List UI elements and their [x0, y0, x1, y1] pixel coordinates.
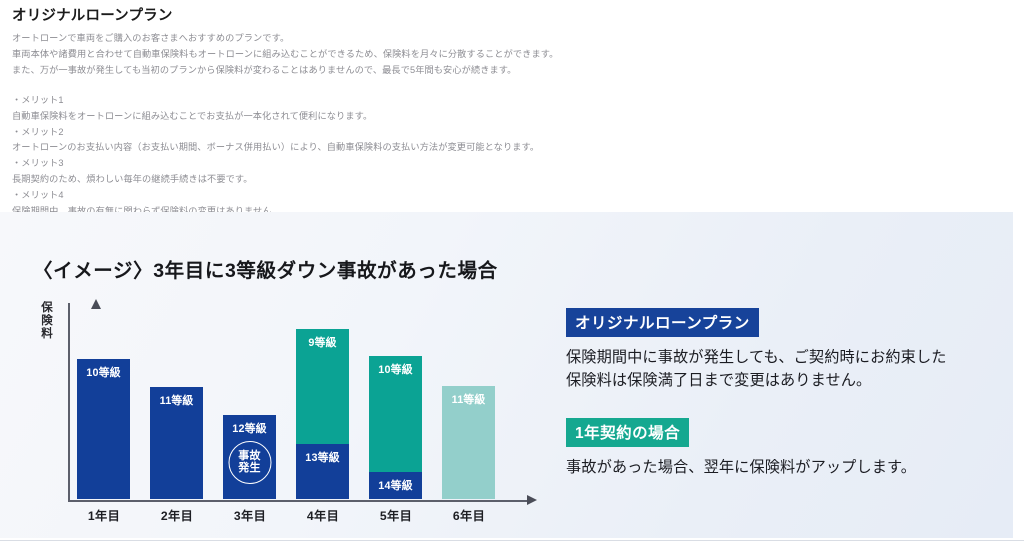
callouts-section: オリジナルローンプラン 保険期間中に事故が発生しても、ご契約時にお約束した 保険… [566, 308, 996, 505]
bar-label-year6-grade11: 11等級 [442, 391, 495, 407]
intro-paragraph-3: また、万が一事故が発生しても当初のプランから保険料が変わることはありませんので、… [12, 63, 1002, 79]
merit-4-label: ・メリット4 [12, 188, 1002, 204]
bar-label-year4-grade9: 9等級 [296, 334, 349, 350]
bar-segment-year4-grade13: 13等級 [296, 444, 349, 499]
merit-3-label: ・メリット3 [12, 156, 1002, 172]
page-root: オリジナルローンプラン オートローンで車両をご購入のお客さまへおすすめのプランで… [0, 0, 1024, 545]
chart-title: 〈イメージ〉3年目に3等級ダウン事故があった場合 [33, 254, 498, 283]
bar-label-year4-grade13: 13等級 [296, 449, 349, 465]
intro-section: オリジナルローンプラン オートローンで車両をご購入のお客さまへおすすめのプランで… [12, 8, 1002, 220]
bar-chart: 保険料 10等級 [40, 298, 540, 516]
callout-body-original-loan-plan: 保険期間中に事故が発生しても、ご契約時にお約束した 保険料は保険満了日まで変更は… [566, 346, 996, 392]
bar-label-year5-grade14: 14等級 [369, 477, 422, 493]
x-axis-tick-labels: 1年目 2年目 3年目 4年目 5年目 6年目 [68, 506, 530, 528]
chart-panel: 〈イメージ〉3年目に3等級ダウン事故があった場合 保険料 10等級 [0, 212, 1013, 538]
y-axis-label: 保険料 [40, 302, 54, 341]
bar-label-year3-grade12: 12等級 [223, 420, 276, 436]
accident-marker-badge: 事故 発生 [228, 441, 271, 484]
callout-one-year-contract: 1年契約の場合 事故があった場合、翌年に保険料がアップします。 [566, 418, 996, 479]
bar-year5: 10等級 14等級 [369, 356, 422, 499]
bar-label-year1-grade10: 10等級 [77, 364, 130, 380]
merit-1-label: ・メリット1 [12, 93, 1002, 109]
callout-body-one-year-contract: 事故があった場合、翌年に保険料がアップします。 [566, 456, 996, 479]
bar-year4: 9等級 13等級 [296, 329, 349, 499]
accident-marker-line1: 事故 [238, 451, 261, 463]
bar-segment-year1-grade10: 10等級 [77, 359, 130, 499]
merit-3-text: 長期契約のため、煩わしい毎年の継続手続きは不要です。 [12, 172, 1002, 188]
bar-year1: 10等級 [77, 359, 130, 499]
x-tick-year2: 2年目 [141, 506, 213, 524]
x-tick-year6: 6年目 [433, 506, 505, 524]
bar-year2: 11等級 [150, 387, 203, 499]
callout-body-line1: 保険期間中に事故が発生しても、ご契約時にお約束した [566, 346, 996, 369]
x-tick-year4: 4年目 [287, 506, 359, 524]
panel-right-margin [1013, 212, 1024, 538]
chart-panel-inner: 〈イメージ〉3年目に3等級ダウン事故があった場合 保険料 10等級 [0, 212, 1013, 538]
page-bottom-divider [0, 540, 1024, 541]
bar-segment-year2-grade11: 11等級 [150, 387, 203, 499]
bar-segment-year4-grade9: 9等級 [296, 329, 349, 444]
callout-badge-original-loan-plan: オリジナルローンプラン [566, 308, 759, 337]
x-tick-year3: 3年目 [214, 506, 286, 524]
bar-segment-year5-grade14: 14等級 [369, 472, 422, 499]
bar-segment-year5-grade10: 10等級 [369, 356, 422, 472]
bar-year6: 11等級 [442, 386, 495, 499]
x-tick-year1: 1年目 [68, 506, 140, 524]
intro-paragraph-2: 車両本体や諸費用と合わせて自動車保険料もオートローンに組み込むことができるため、… [12, 47, 1002, 63]
x-tick-year5: 5年目 [360, 506, 432, 524]
bar-label-year5-grade10: 10等級 [369, 361, 422, 377]
page-title: オリジナルローンプラン [12, 8, 1002, 25]
merit-2-text: オートローンのお支払い内容（お支払い期間、ボーナス併用払い）により、自動車保険料… [12, 140, 1002, 156]
bar-label-year2-grade11: 11等級 [150, 392, 203, 408]
callout-body-line1: 事故があった場合、翌年に保険料がアップします。 [566, 456, 996, 479]
accident-marker-line2: 発生 [238, 463, 261, 475]
callout-badge-one-year-contract: 1年契約の場合 [566, 418, 689, 447]
callout-body-line2: 保険料は保険満了日まで変更はありません。 [566, 369, 996, 392]
intro-paragraph-1: オートローンで車両をご購入のお客さまへおすすめのプランです。 [12, 31, 1002, 47]
bars-container: 10等級 11等級 [68, 298, 530, 501]
bar-segment-year3-grade12: 12等級 事故 発生 [223, 415, 276, 499]
callout-original-loan-plan: オリジナルローンプラン 保険期間中に事故が発生しても、ご契約時にお約束した 保険… [566, 308, 996, 392]
merit-1-text: 自動車保険料をオートローンに組み込むことでお支払が一本化されて便利になります。 [12, 109, 1002, 125]
bar-year3: 12等級 事故 発生 [223, 415, 276, 499]
merit-list: ・メリット1 自動車保険料をオートローンに組み込むことでお支払が一本化されて便利… [12, 93, 1002, 220]
bar-segment-year6-grade11: 11等級 [442, 386, 495, 499]
merit-2-label: ・メリット2 [12, 125, 1002, 141]
